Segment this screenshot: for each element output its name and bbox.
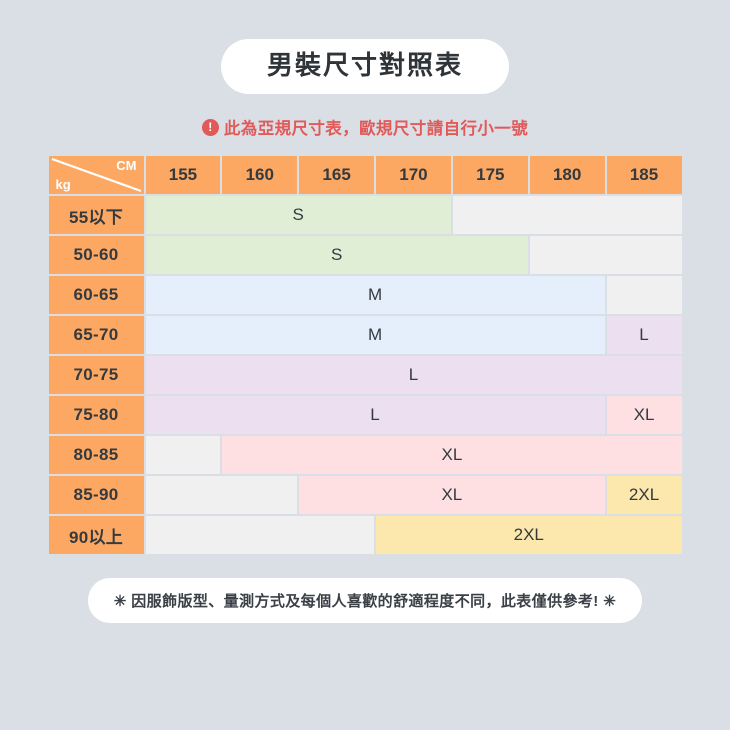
axis-label-cm: CM [116,158,136,173]
table-header-row: CM kg 155 160 165 170 175 180 185 [49,156,682,194]
row-header-4: 70-75 [49,356,144,394]
size-cell: L [146,356,682,394]
row-header-2: 60-65 [49,276,144,314]
table-row: 55以下 S [49,196,682,234]
size-cell: 2XL [376,516,681,554]
size-table-container: CM kg 155 160 165 170 175 180 185 55以下 S [47,154,684,556]
page-title: 男裝尺寸對照表 [221,39,509,94]
title-container: 男裝尺寸對照表 [0,0,730,94]
table-row: 90以上 2XL [49,516,682,554]
size-cell: M [146,316,605,354]
size-cell: 2XL [607,476,682,514]
table-row: 60-65 M [49,276,682,314]
column-header-185: 185 [607,156,682,194]
column-header-165: 165 [299,156,374,194]
table-row: 75-80 L XL [49,396,682,434]
row-header-3: 65-70 [49,316,144,354]
warning-text: 此為亞規尺寸表，歐規尺寸請自行小一號 [224,115,528,139]
axis-label-kg: kg [56,177,71,192]
row-header-8: 90以上 [49,516,144,554]
size-chart-page: 男裝尺寸對照表 ! 此為亞規尺寸表，歐規尺寸請自行小一號 CM kg 155 1… [0,0,730,730]
size-cell [530,236,682,274]
size-cell: L [607,316,682,354]
size-cell [146,516,375,554]
size-cell: XL [299,476,604,514]
warning-note: ! 此為亞規尺寸表，歐規尺寸請自行小一號 [0,115,730,139]
size-cell: XL [222,436,681,474]
size-table-body: CM kg 155 160 165 170 175 180 185 55以下 S [49,156,682,554]
row-header-1: 50-60 [49,236,144,274]
size-cell [146,436,221,474]
axis-corner-cell: CM kg [49,156,144,194]
table-row: 80-85 XL [49,436,682,474]
row-header-7: 85-90 [49,476,144,514]
exclamation-circle-icon: ! [202,119,219,136]
footer-container: ✳ 因服飾版型、量測方式及每個人喜歡的舒適程度不同，此表僅供參考! ✳ [0,578,730,623]
column-header-170: 170 [376,156,451,194]
row-header-6: 80-85 [49,436,144,474]
size-cell [453,196,682,234]
table-row: 65-70 M L [49,316,682,354]
column-header-180: 180 [530,156,605,194]
size-cell: L [146,396,605,434]
size-cell: XL [607,396,682,434]
column-header-155: 155 [146,156,221,194]
table-row: 50-60 S [49,236,682,274]
table-row: 85-90 XL 2XL [49,476,682,514]
size-cell [146,476,298,514]
size-table: CM kg 155 160 165 170 175 180 185 55以下 S [47,154,684,556]
column-header-175: 175 [453,156,528,194]
row-header-5: 75-80 [49,396,144,434]
size-cell: M [146,276,605,314]
size-cell: S [146,196,451,234]
row-header-0: 55以下 [49,196,144,234]
footer-note: ✳ 因服飾版型、量測方式及每個人喜歡的舒適程度不同，此表僅供參考! ✳ [88,578,642,623]
size-cell [607,276,682,314]
table-row: 70-75 L [49,356,682,394]
size-cell: S [146,236,528,274]
column-header-160: 160 [222,156,297,194]
